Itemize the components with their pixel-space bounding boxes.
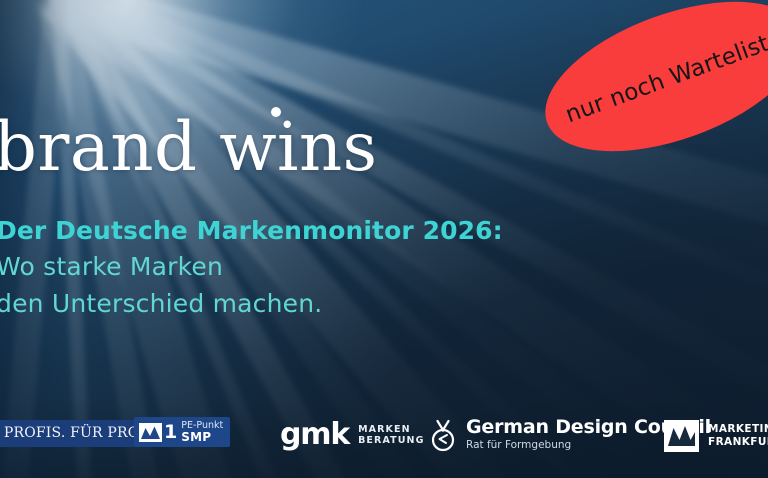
headline-line-1: Der Deutsche Markenmonitor 2026:: [0, 214, 503, 248]
promo-banner: nur noch Warteliste brand wins Der Deuts…: [0, 0, 768, 478]
brand-wordmark: brand wins: [0, 114, 378, 181]
logo-pe-punkt-smp[interactable]: 1 PE-Punkt SMP: [134, 417, 230, 447]
headline-line-3: den Unterschied machen.: [0, 285, 503, 322]
wordmark-dot-icon: [271, 107, 281, 117]
headline-block: Der Deutsche Markenmonitor 2026: Wo star…: [0, 214, 503, 322]
design-council-compass-icon: [428, 417, 458, 453]
gmk-subtitle: MARKEN BERATUNG: [358, 424, 424, 446]
logo-gmk-markenberatung[interactable]: gmk MARKEN BERATUNG: [280, 420, 425, 450]
gmk-wordmark: gmk: [280, 420, 349, 450]
gmk-subtitle-line-1: MARKEN: [358, 424, 424, 435]
headline-line-2: Wo starke Marken: [0, 248, 503, 285]
marketing-club-text: MARKETING CLUB FRANKFURT: [708, 423, 768, 448]
pe-punkt-wordmark: PE-Punkt SMP: [181, 421, 223, 443]
pe-punkt-mountain-icon: [139, 423, 162, 442]
brand-wordmark-text: brand wins: [0, 108, 378, 186]
marketing-club-line-1: MARKETING CLUB: [708, 423, 768, 436]
partner-logo-bar: VON PROFIS. FÜR PROFIS. 1 PE-Punkt SMP g…: [0, 416, 768, 462]
marketing-club-zigzag-icon: [664, 420, 699, 452]
marketing-club-line-2: FRANKFURT: [708, 436, 768, 449]
logo-marketing-club-frankfurt[interactable]: MARKETING CLUB FRANKFURT: [664, 420, 768, 452]
pe-punkt-number: 1: [164, 423, 177, 442]
gmk-subtitle-line-2: BERATUNG: [358, 435, 424, 446]
pe-punkt-line-2: SMP: [181, 431, 223, 443]
